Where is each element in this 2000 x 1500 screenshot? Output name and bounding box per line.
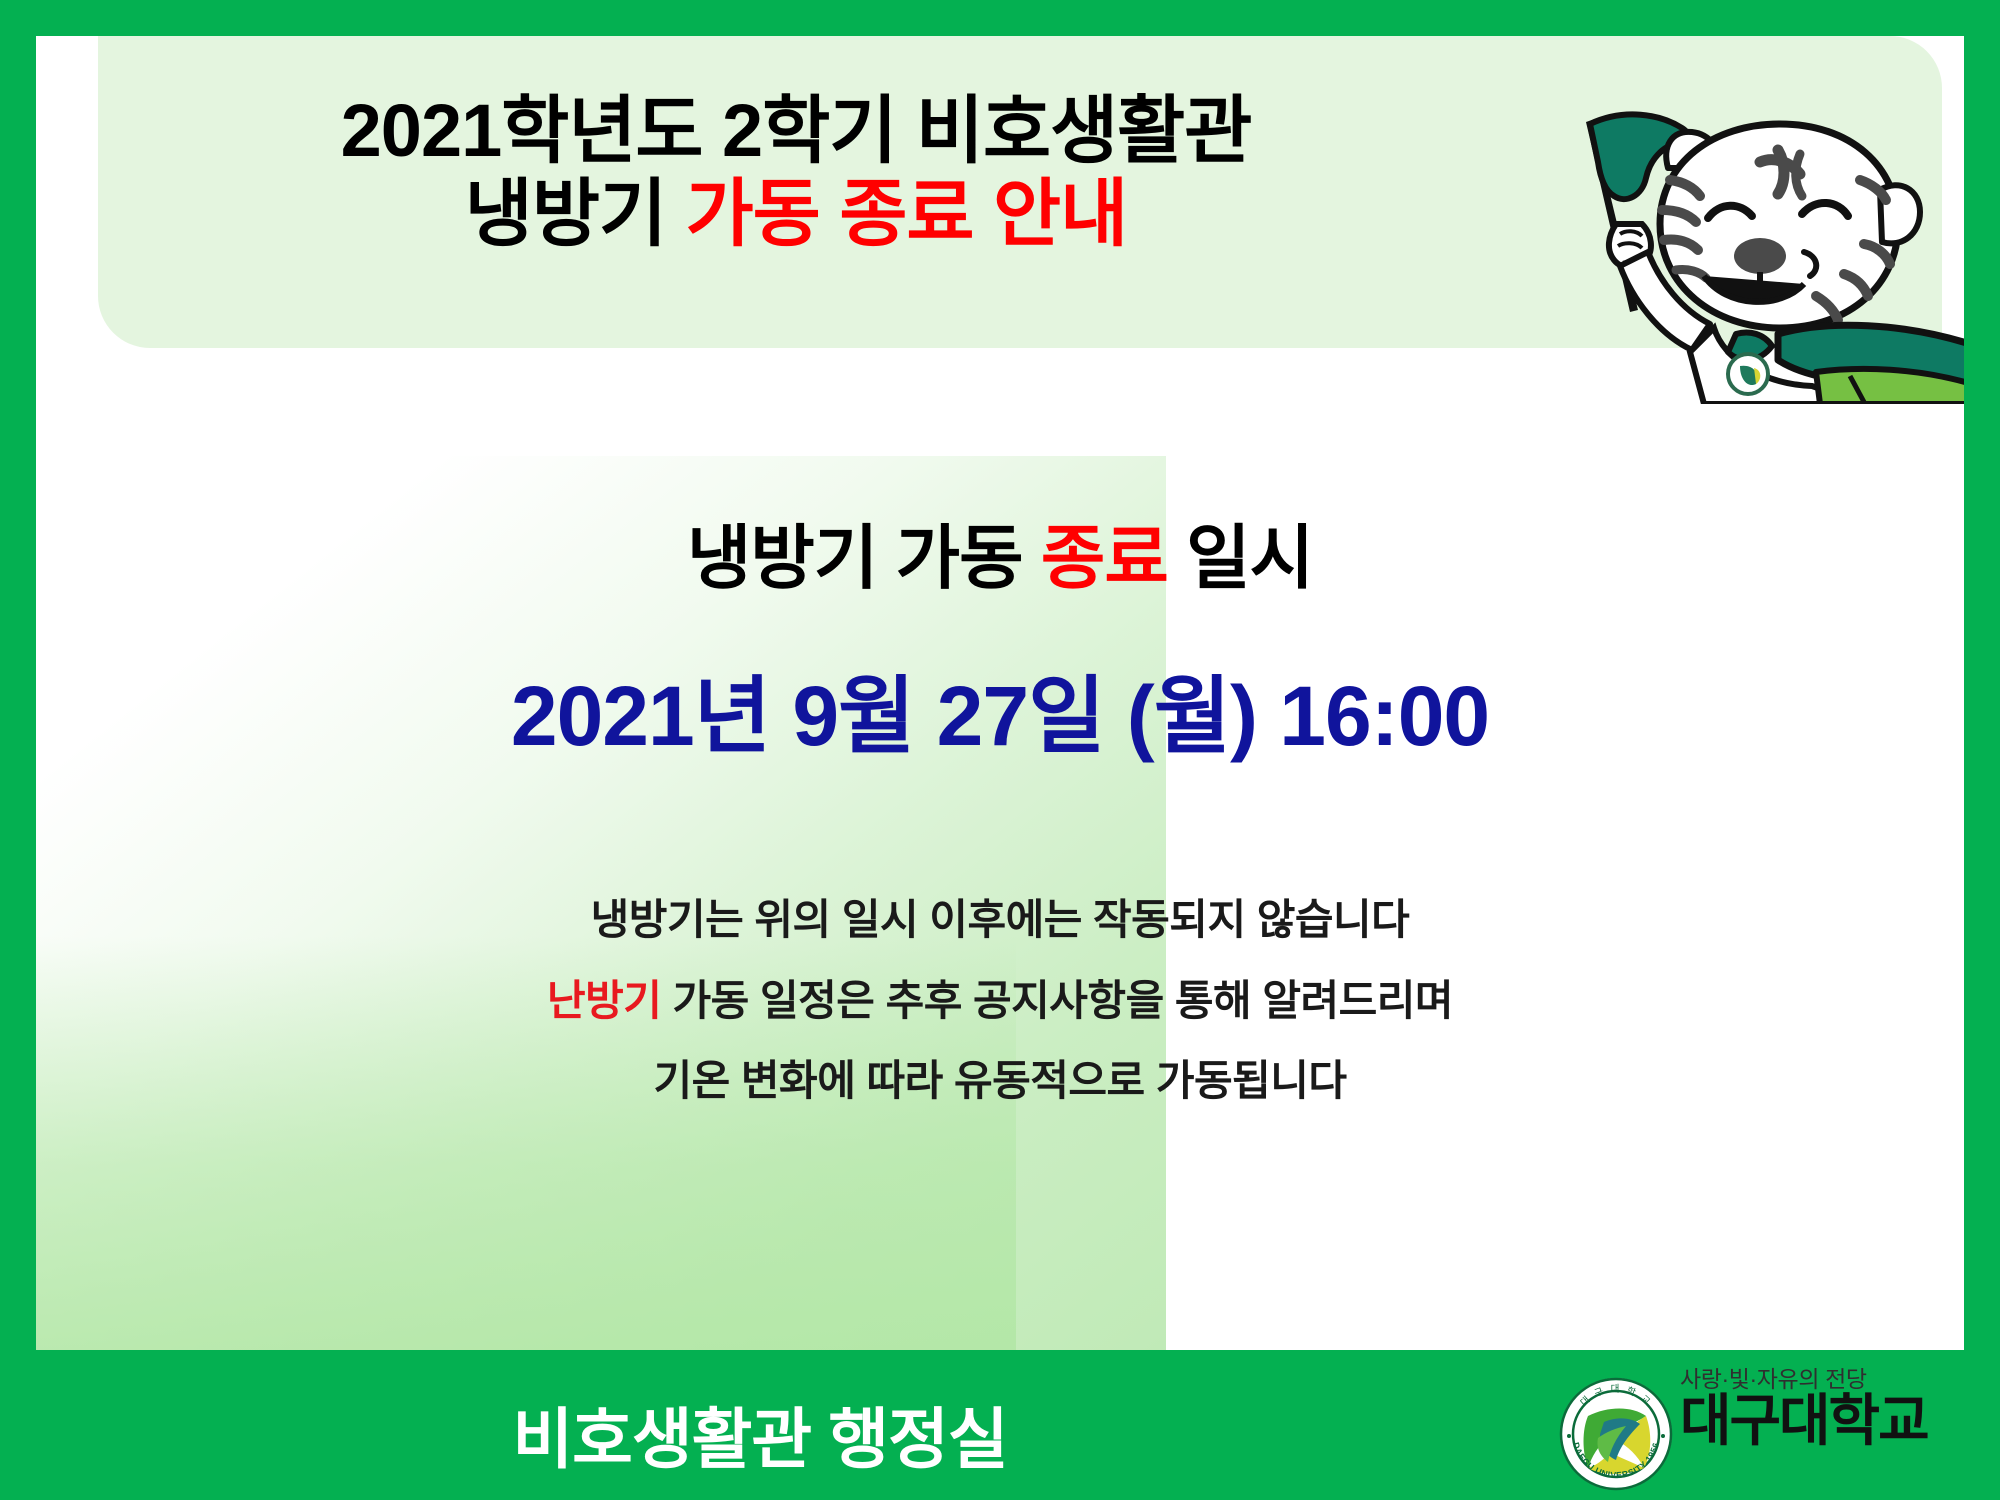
issuing-office: 비호생활관 행정실 [0, 1386, 1520, 1482]
title-line-1: 2021학년도 2학기 비호생활관 [156, 90, 1436, 173]
notice-line-2-rest: 가동 일정은 추후 공지사항을 통해 알려드리며 [661, 977, 1453, 1024]
university-brand: 대 구 대 학 교 DAEGU UNIVERSITY 1956 사랑·빛·자유의… [1552, 1366, 1992, 1494]
notice-line-2-highlight: 난방기 [547, 977, 661, 1024]
notice-paragraph: 냉방기는 위의 일시 이후에는 작동되지 않습니다 난방기 가동 일정은 추후 … [36, 880, 1964, 1122]
content-card: 2021학년도 2학기 비호생활관 냉방기 가동 종료 안내 [36, 36, 1964, 1350]
brand-name: 대구대학교 [1680, 1391, 1980, 1450]
daegu-university-seal-icon: 대 구 대 학 교 DAEGU UNIVERSITY 1956 [1558, 1376, 1674, 1492]
notice-line-2: 난방기 가동 일정은 추후 공지사항을 통해 알려드리며 [36, 961, 1964, 1042]
footer-bar: 비호생활관 행정실 [0, 1350, 2000, 1500]
notice-line-1: 냉방기는 위의 일시 이후에는 작동되지 않습니다 [36, 880, 1964, 961]
subheading-after: 일시 [1168, 519, 1313, 597]
title-line-2-highlight: 가동 종료 안내 [686, 172, 1128, 255]
subheading: 냉방기 가동 종료 일시 [36, 502, 1964, 603]
notice-body: 냉방기 가동 종료 일시 2021년 9월 27일 (월) 16:00 냉방기는… [36, 348, 1964, 1350]
subheading-highlight: 종료 [1041, 519, 1168, 597]
end-datetime: 2021년 9월 27일 (월) 16:00 [36, 649, 1964, 770]
poster-title: 2021학년도 2학기 비호생활관 냉방기 가동 종료 안내 [156, 90, 1436, 256]
poster-root: 2021학년도 2학기 비호생활관 냉방기 가동 종료 안내 [0, 0, 2000, 1500]
notice-line-3: 기온 변화에 따라 유동적으로 가동됩니다 [36, 1041, 1964, 1122]
title-line-2: 냉방기 가동 종료 안내 [156, 173, 1436, 256]
title-line-2-plain: 냉방기 [465, 172, 686, 255]
subheading-before: 냉방기 가동 [687, 519, 1041, 597]
brand-tagline: 사랑·빛·자유의 전당 [1680, 1366, 1980, 1391]
brand-text-block: 사랑·빛·자유의 전당 대구대학교 [1680, 1366, 1980, 1450]
